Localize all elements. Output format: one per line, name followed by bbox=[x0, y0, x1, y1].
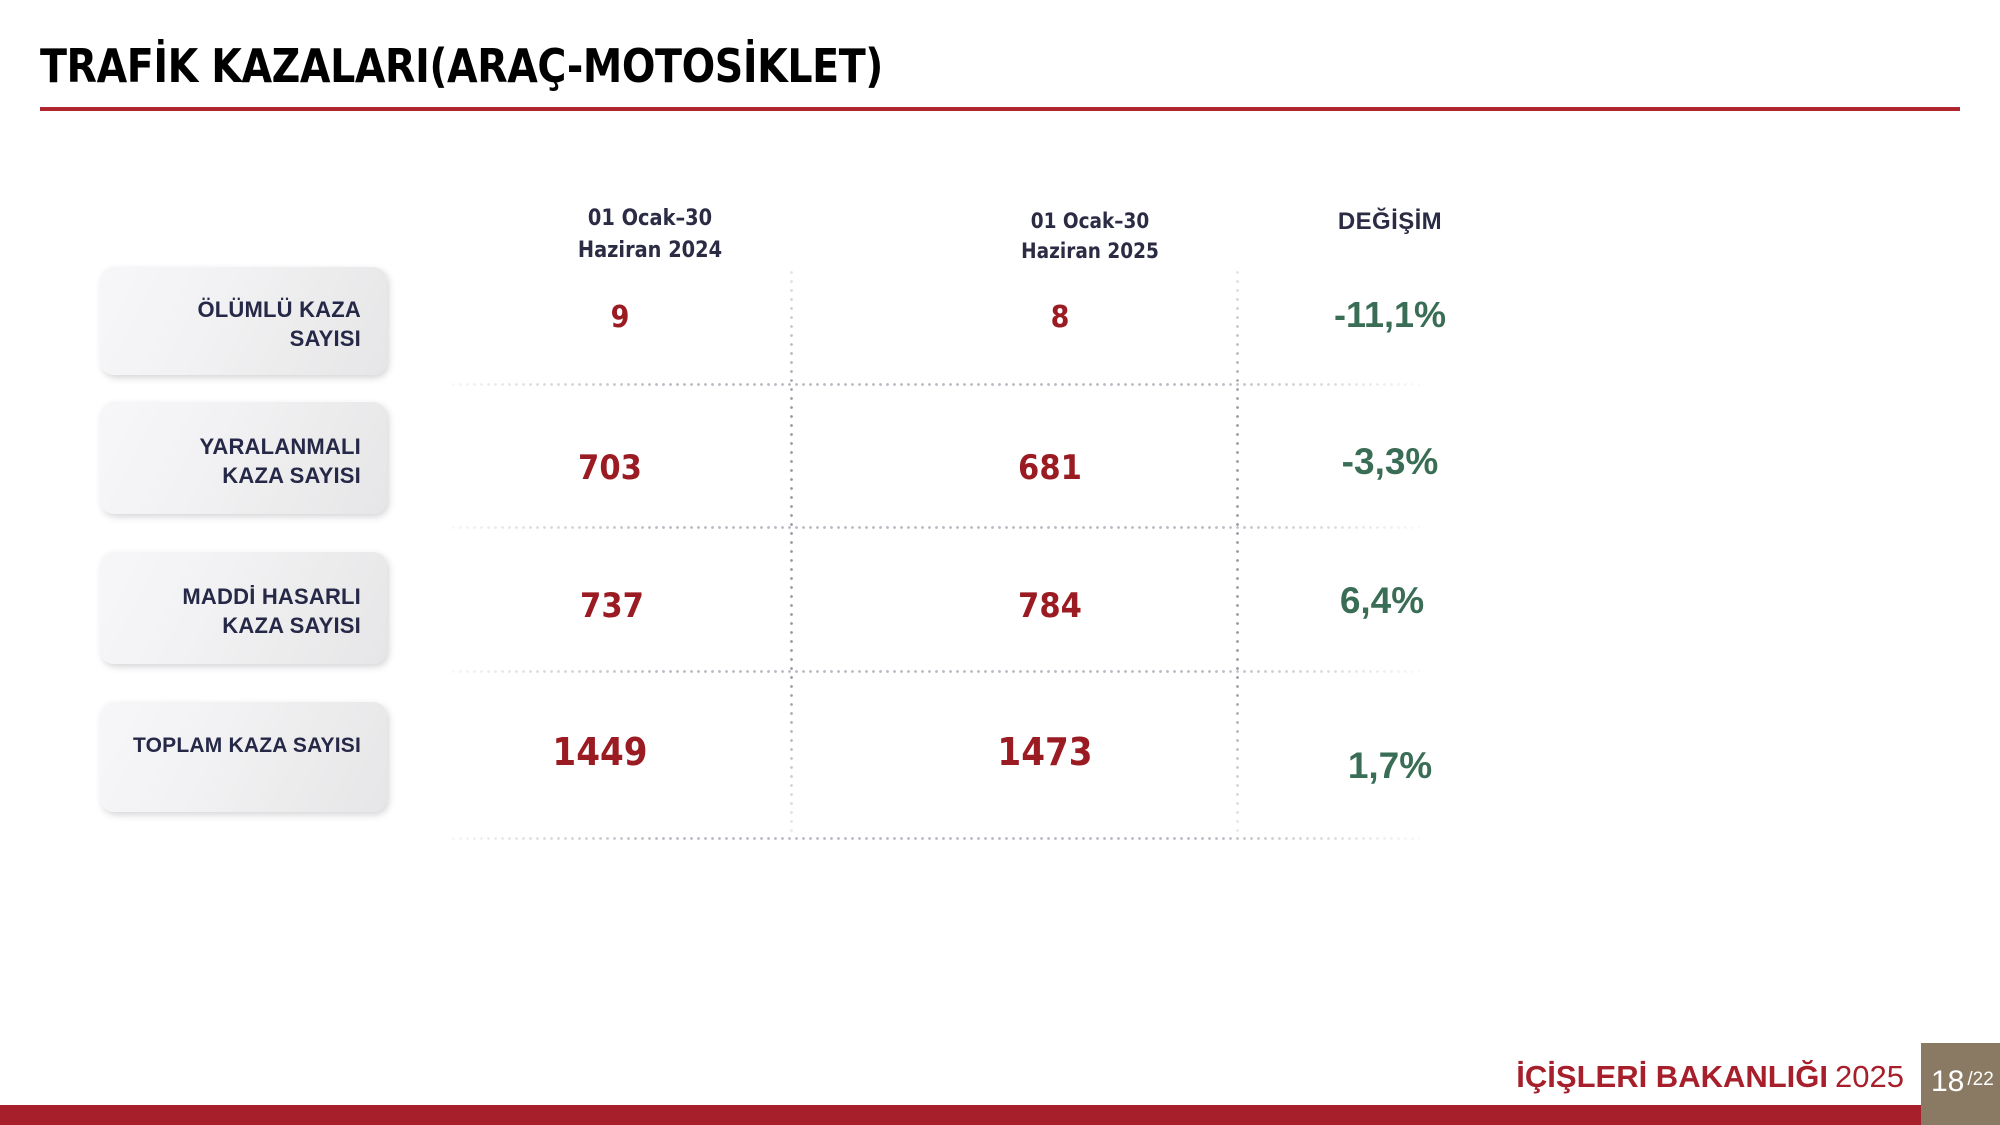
page-total: /22 bbox=[1967, 1069, 1993, 1090]
row-divider-3 bbox=[450, 670, 1420, 673]
cell-toplam-kaza-2024: 1449 bbox=[465, 730, 735, 774]
column-divider-2 bbox=[1236, 268, 1239, 838]
cell-yaralanmali-kaza-change: -3,3% bbox=[1230, 441, 1550, 483]
row-label-card-olumlu-kaza: ÖLÜMLÜ KAZA SAYISI bbox=[100, 267, 387, 375]
cell-maddi-hasarli-kaza-change: 6,4% bbox=[1222, 580, 1542, 622]
row-label-olumlu-kaza-line2: SAYISI bbox=[120, 324, 361, 353]
cell-olumlu-kaza-2024: 9 bbox=[485, 300, 755, 335]
row-label-card-yaralanmali-kaza: YARALANMALI KAZA SAYISI bbox=[100, 402, 387, 514]
cell-maddi-hasarli-kaza-2024: 737 bbox=[477, 586, 747, 626]
cell-olumlu-kaza-change: -11,1% bbox=[1230, 294, 1550, 336]
cell-yaralanmali-kaza-2024: 703 bbox=[475, 448, 745, 488]
row-label-yaralanmali-kaza-line1: YARALANMALI bbox=[120, 432, 361, 461]
row-label-olumlu-kaza-line1: ÖLÜMLÜ KAZA bbox=[120, 295, 361, 324]
column-header-period-2024-line2: Haziran 2024 bbox=[518, 235, 782, 267]
row-label-maddi-hasarli-kaza: MADDİ HASARLI KAZA SAYISI bbox=[120, 582, 361, 640]
page-number-badge: 18/22 bbox=[1921, 1043, 2000, 1125]
page-number-badge-inner: 18/22 bbox=[1931, 1065, 1994, 1099]
statistics-table: 01 Ocak–30 Haziran 2024 01 Ocak–30 Hazir… bbox=[0, 0, 2000, 1125]
cell-yaralanmali-kaza-2025: 681 bbox=[915, 448, 1185, 488]
row-label-card-toplam-kaza: TOPLAM KAZA SAYISI bbox=[100, 702, 387, 812]
row-label-olumlu-kaza: ÖLÜMLÜ KAZA SAYISI bbox=[120, 295, 361, 353]
column-header-period-2025: 01 Ocak–30 Haziran 2025 bbox=[958, 206, 1222, 267]
column-divider-1 bbox=[790, 268, 793, 838]
row-label-toplam-kaza-line1: TOPLAM KAZA SAYISI bbox=[120, 732, 361, 760]
row-label-maddi-hasarli-kaza-line1: MADDİ HASARLI bbox=[120, 582, 361, 611]
column-header-period-2024-line1: 01 Ocak–30 bbox=[518, 203, 782, 235]
column-header-period-2025-line2: Haziran 2025 bbox=[958, 236, 1222, 266]
row-label-maddi-hasarli-kaza-line2: KAZA SAYISI bbox=[120, 611, 361, 640]
row-label-card-maddi-hasarli-kaza: MADDİ HASARLI KAZA SAYISI bbox=[100, 552, 387, 664]
column-header-period-2025-line1: 01 Ocak–30 bbox=[958, 206, 1222, 236]
page-number: 18 bbox=[1931, 1065, 1964, 1098]
footer-ministry-label: İÇİŞLERİ BAKANLIĞI bbox=[1516, 1059, 1828, 1094]
column-header-change: DEĞİŞİM bbox=[1230, 205, 1550, 240]
footer-year-label: 2025 bbox=[1835, 1059, 1904, 1094]
column-header-period-2024: 01 Ocak–30 Haziran 2024 bbox=[518, 203, 782, 267]
cell-olumlu-kaza-2025: 8 bbox=[925, 300, 1195, 335]
cell-maddi-hasarli-kaza-2025: 784 bbox=[915, 586, 1185, 626]
row-divider-1 bbox=[450, 383, 1420, 386]
slide-root: TRAFİK KAZALARI(ARAÇ-MOTOSİKLET) 01 Ocak… bbox=[0, 0, 2000, 1125]
row-divider-4 bbox=[450, 837, 1420, 840]
row-label-toplam-kaza: TOPLAM KAZA SAYISI bbox=[120, 732, 361, 760]
cell-toplam-kaza-2025: 1473 bbox=[910, 730, 1180, 774]
row-label-yaralanmali-kaza: YARALANMALI KAZA SAYISI bbox=[120, 432, 361, 490]
row-divider-2 bbox=[450, 526, 1420, 529]
footer-branding: İÇİŞLERİ BAKANLIĞI2025 bbox=[1516, 1059, 1904, 1095]
cell-toplam-kaza-change: 1,7% bbox=[1230, 745, 1550, 787]
row-label-yaralanmali-kaza-line2: KAZA SAYISI bbox=[120, 461, 361, 490]
footer-accent-bar bbox=[0, 1105, 2000, 1125]
